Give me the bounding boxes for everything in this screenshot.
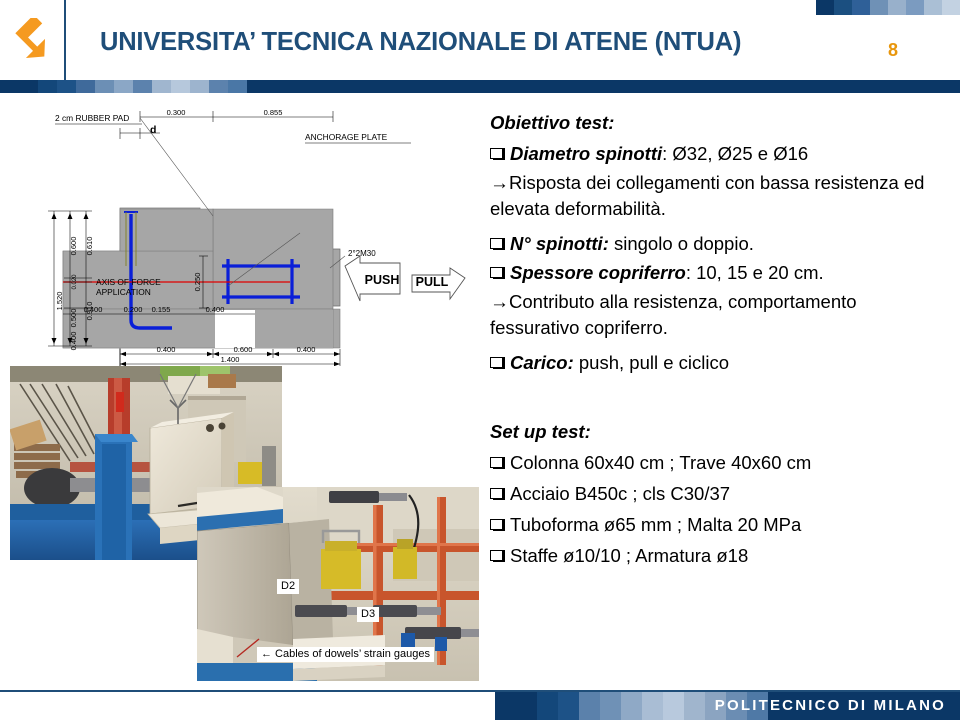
technical-drawing: 1.520 0.600 0.610 0.020 0.500 0.910 0.40… [0,96,470,366]
checkbox-bullet-icon [490,519,503,530]
right-arrow-icon: → [490,292,509,313]
pull-label: PULL [416,275,449,289]
objective-item-load-value: push, pull e ciclico [574,352,729,373]
checkbox-bullet-icon [490,457,503,468]
page-number: 8 [888,40,898,61]
objective-arrow-note-1-text: Risposta dei collegamenti con bassa resi… [490,172,924,219]
checkbox-bullet-icon [490,267,503,278]
objective-item-cover: Spessore copriferro: 10, 15 e 20 cm. [490,260,950,285]
setup-item-2: Tuboforma ø65 mm ; Malta 20 MPa [490,512,950,537]
checkbox-bullet-icon [490,238,503,249]
setup-item-3: Staffe ø10/10 ; Armatura ø18 [490,543,950,568]
setup-item-3-text: Staffe ø10/10 ; Armatura ø18 [510,545,748,566]
axis-of-force-label-1: AXIS OF FORCE [96,277,161,287]
objective-item-number-label: N° spinotti: [510,233,609,254]
objective-arrow-note-2-text: Contributo alla resistenza, comportament… [490,291,857,338]
right-arrow-icon: → [490,173,509,194]
anchorage-plate-label: ANCHORAGE PLATE [305,132,388,142]
objective-item-number: N° spinotti: singolo o doppio. [490,231,950,256]
dim-mid-2: 0.200 [124,305,143,314]
dim-v3: 0.020 [72,274,78,290]
dim-bottom-3: 0.400 [297,345,316,354]
slide-header: UNIVERSITA’ TECNICA NAZIONALE DI ATENE (… [0,0,960,80]
footer-bar: POLITECNICO DI MILANO [495,692,960,720]
objective-item-diameter: Diametro spinotti: Ø32, Ø25 e Ø16 [490,141,950,166]
rubber-pad-label: 2 cm RUBBER PAD [55,113,129,123]
setup-item-0: Colonna 60x40 cm ; Trave 40x60 cm [490,450,950,475]
objective-item-number-value: singolo o doppio. [609,233,754,254]
header-corner-squares [816,0,960,15]
checkbox-bullet-icon [490,148,503,159]
header-band-gradient-squares [0,80,247,93]
axis-of-force-label-2: APPLICATION [96,287,151,297]
push-label: PUSH [365,273,400,287]
objective-arrow-note-2: →Contributo alla resistenza, comportamen… [490,289,950,340]
header-vertical-divider [64,0,66,80]
dim-v4: 0.500 [69,309,78,328]
content-column: Obiettivo test: Diametro spinotti: Ø32, … [490,108,950,574]
dim-mid-5: 0.250 [193,273,202,292]
orange-down-right-arrow-icon [10,18,56,64]
setup-heading: Set up test: [490,417,950,447]
objective-item-cover-label: Spessore copriferro [510,262,686,283]
checkbox-bullet-icon [490,357,503,368]
header-band [0,80,960,93]
photo-label-d2: D2 [277,579,299,594]
dim-total-vertical: 1.520 [55,292,64,311]
setup-item-0-text: Colonna 60x40 cm ; Trave 40x60 cm [510,452,811,473]
setup-item-1-text: Acciaio B450c ; cls C30/37 [510,483,730,504]
page-title: UNIVERSITA’ TECNICA NAZIONALE DI ATENE (… [100,28,741,57]
objective-item-cover-value: : 10, 15 e 20 cm. [686,262,824,283]
dim-v2: 0.610 [85,237,94,256]
d-label: d [150,124,156,136]
objective-arrow-note-1: →Risposta dei collegamenti con bassa res… [490,170,950,221]
dim-bottom-total: 1.400 [221,355,240,364]
photo-label-cables: ← Cables of dowels’ strain gauges [257,647,434,662]
dim-bottom-1: 0.400 [157,345,176,354]
photo-label-d3: D3 [357,607,379,622]
dim-mid-4: 0.400 [206,305,225,314]
dim-mid-3: 0.155 [152,305,171,314]
dim-v1: 0.600 [69,237,78,256]
checkbox-bullet-icon [490,550,503,561]
objective-heading: Obiettivo test: [490,108,950,138]
dim-v6: 0.400 [69,332,78,351]
setup-item-2-text: Tuboforma ø65 mm ; Malta 20 MPa [510,514,801,535]
objective-item-diameter-value: : Ø32, Ø25 e Ø16 [662,143,808,164]
objective-item-load-label: Carico: [510,352,574,373]
dim-top-1: 0.300 [167,108,186,117]
footer-brand-label: POLITECNICO DI MILANO [715,697,946,714]
bolts-label: 2°2M30 [348,249,376,258]
dim-bottom-2: 0.600 [234,345,253,354]
objective-item-diameter-label: Diametro spinotti [510,143,662,164]
setup-block: Set up test: Colonna 60x40 cm ; Trave 40… [490,417,950,568]
objective-item-load: Carico: push, pull e ciclico [490,350,950,375]
dim-top-2: 0.855 [264,108,283,117]
setup-item-1: Acciaio B450c ; cls C30/37 [490,481,950,506]
checkbox-bullet-icon [490,488,503,499]
dowel-instrumentation-photo: D2 D3 ← Cables of dowels’ strain gauges [197,487,479,681]
dim-mid-1b: 0.400 [84,305,103,314]
